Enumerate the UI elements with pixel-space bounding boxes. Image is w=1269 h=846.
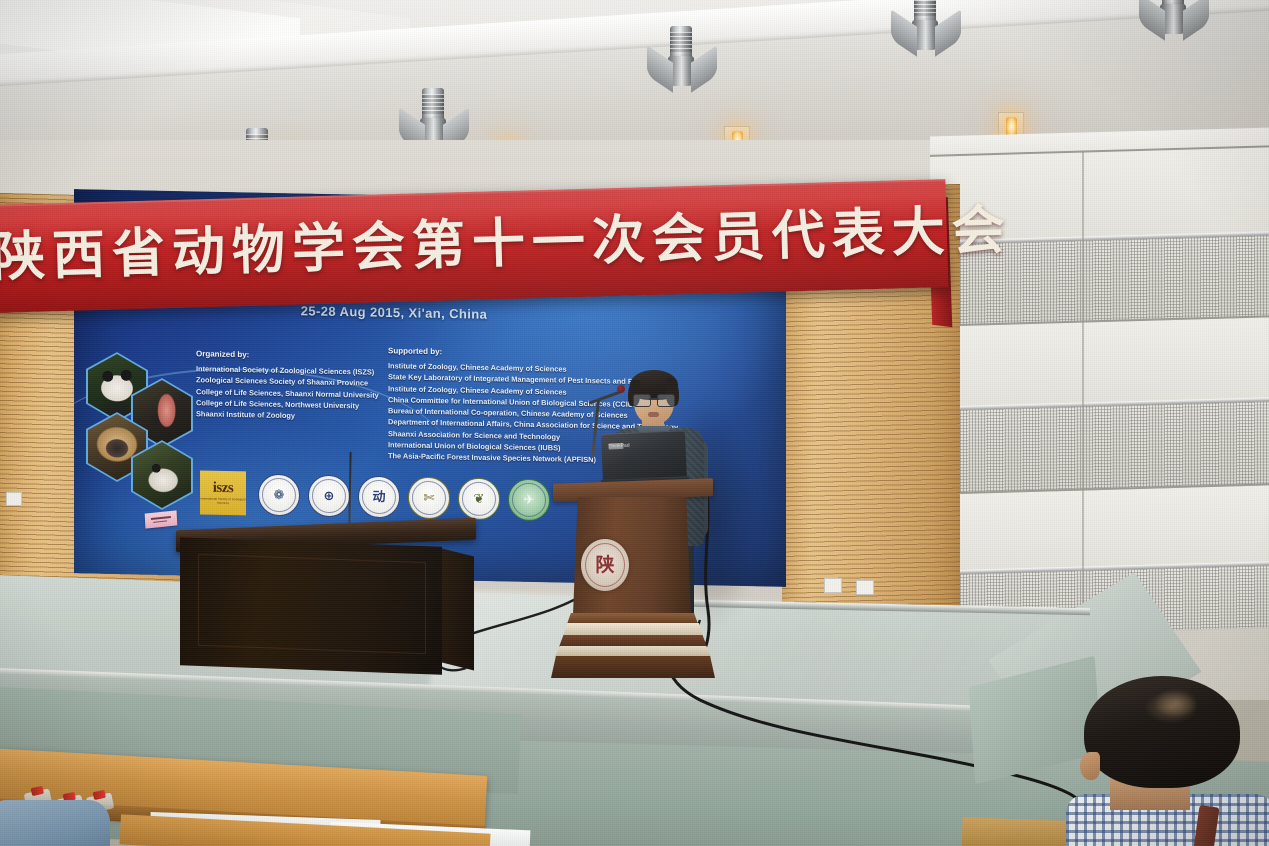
stage-table-side — [438, 548, 474, 671]
audience-seat-back — [0, 800, 110, 846]
seal-logo-3: 动 — [358, 476, 400, 519]
presenter-laptop[interactable]: ThinkPad — [601, 430, 687, 486]
stage-table-panel — [198, 554, 426, 654]
organized-by-block: Organized by: International Society of Z… — [196, 348, 379, 423]
stage-table — [176, 524, 476, 684]
seal-logo-1: ❁ — [258, 474, 300, 517]
ceiling-spotlight-6 — [1160, 0, 1186, 36]
speaker-glasses — [633, 394, 675, 405]
speaker-mouth — [648, 412, 659, 417]
sponsor-logo-row: iszs International Society of Zoological… — [200, 469, 560, 526]
podium-base-plinth — [551, 656, 715, 678]
iszs-logo: iszs International Society of Zoological… — [200, 471, 246, 516]
podium-base-stripe-2 — [559, 635, 707, 647]
podium-base-stripe-3 — [555, 646, 711, 657]
seal-logo-4: ✄ — [408, 477, 450, 520]
organized-by-heading: Organized by: — [196, 348, 379, 364]
laptop-lid — [601, 430, 687, 482]
seal-logo-5: ❦ — [458, 477, 500, 520]
iszs-logo-text: iszs — [213, 481, 234, 496]
wall-outlet-1 — [6, 492, 22, 506]
ceiling-spotlight-4 — [668, 26, 694, 88]
podium-emblem: 陕 — [581, 539, 629, 591]
seal-logo-6: ✈ — [508, 478, 550, 521]
iszs-logo-subtext: International Society of Zoological Scie… — [200, 497, 246, 505]
conference-hall-photo: International Symposium on Animal Divers… — [0, 0, 1269, 846]
audience-hair — [1084, 676, 1240, 788]
audience-ear — [1080, 752, 1100, 780]
seal-logo-2: ⊕ — [308, 475, 350, 518]
podium: 陕 — [553, 481, 713, 701]
foreground-audience-member — [1058, 676, 1269, 846]
laptop-logo: ThinkPad — [608, 443, 623, 450]
podium-base-stripe-1 — [563, 623, 703, 636]
podium-band — [567, 613, 698, 624]
podium-microphone-head — [617, 385, 625, 393]
ceiling-spotlight-5 — [912, 0, 938, 52]
